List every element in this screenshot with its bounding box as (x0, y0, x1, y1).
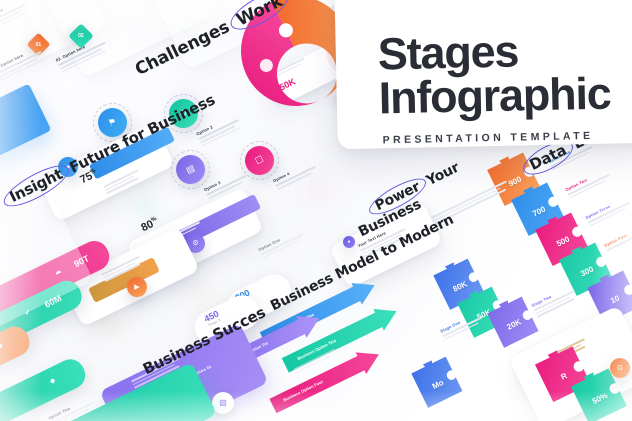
template-preview-canvas: Option One 01 01. Option here 02 02. Opt… (0, 0, 632, 421)
dot-icon: ● (347, 240, 350, 245)
small-puzzle-legend: Stage Two (531, 282, 582, 319)
title-subtitle: PRESENTATION TEMPLATE (383, 130, 594, 146)
decor-blob-teal (138, 202, 152, 216)
text-line (430, 180, 506, 218)
ghost-text-mid: Option One (257, 226, 308, 261)
diamond-label: 02 (78, 33, 84, 39)
decor-blob-pink (312, 182, 326, 196)
star-icon: ★ (0, 341, 5, 351)
title-card: Stages Infographic PRESENTATION TEMPLATE (334, 0, 632, 149)
title-line-2: Infographic (378, 70, 611, 122)
heading-text-post: Your (420, 160, 462, 191)
power-card-bullet-icon: ● (343, 236, 355, 248)
puzzle-legend-3: Option Three (584, 194, 632, 229)
puzzle-legend-2: Option Two (564, 166, 615, 201)
flag-icon: G (617, 365, 622, 372)
option-card-purple-icon: ▧ (212, 392, 234, 414)
percent-unit: % (150, 216, 157, 224)
flag-icon: ▶ (134, 284, 139, 291)
stage-icon-4: ☐ (240, 141, 279, 180)
puzzle-piece-mo: Mo (407, 353, 468, 416)
gear-icon: ⚙ (192, 240, 198, 247)
puzzle-legend-4: Option Four (603, 222, 632, 253)
presentation-screen-icon: ▧ (219, 399, 227, 407)
decor-blob-amber (196, 292, 208, 304)
decor-blob-orange (104, 316, 118, 330)
percent-icon-35: ▶ (127, 277, 147, 297)
diamond-icon: ◆ (48, 376, 56, 386)
decor-wedge-blue (0, 84, 51, 165)
corner-badge-icon: G (610, 358, 630, 378)
stage-icon-3: ▤ (171, 150, 210, 189)
